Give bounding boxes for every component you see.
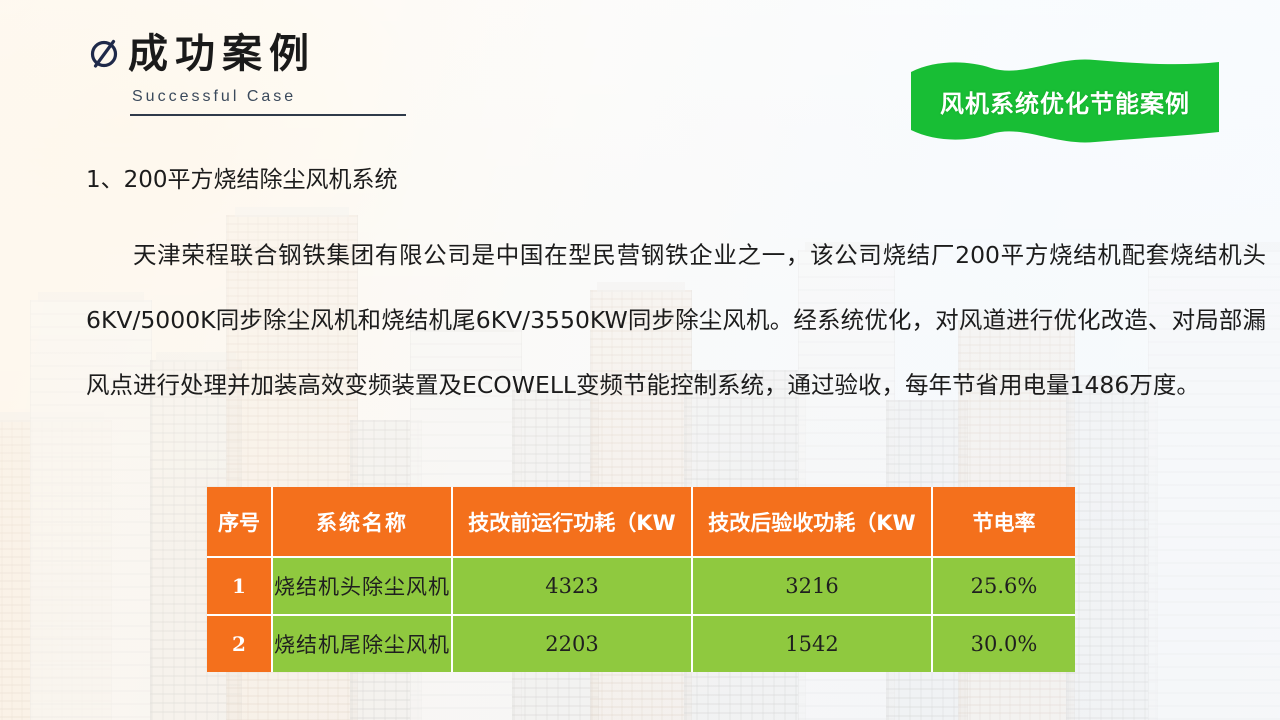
ribbon-label: 风机系统优化节能案例 — [905, 84, 1225, 119]
cell-saving-rate: 30.0% — [933, 616, 1075, 672]
column-header-saving-rate: 节电率 — [933, 487, 1075, 558]
page-title-block: 成功案例 Successful Case — [88, 34, 406, 116]
page-title: 成功案例 — [128, 34, 316, 74]
cell-index: 2 — [207, 616, 273, 672]
cell-system-name: 烧结机头除尘风机 — [273, 558, 453, 616]
body-copy: 1、200平方烧结除尘风机系统 天津荣程联合钢铁集团有限公司是中国在型民营钢铁企… — [86, 168, 1266, 418]
cell-power-after: 1542 — [693, 616, 933, 672]
slide-canvas: 成功案例 Successful Case 风机系统优化节能案例 1、200平方烧… — [0, 0, 1280, 720]
results-table: 序号 系统名称 技改前运行功耗（KW 技改后验收功耗（KW 节电率 1 烧结机头… — [207, 487, 1075, 672]
column-header-power-before: 技改前运行功耗（KW — [453, 487, 693, 558]
cell-power-before: 4323 — [453, 558, 693, 616]
table-header-row: 序号 系统名称 技改前运行功耗（KW 技改后验收功耗（KW 节电率 — [207, 487, 1075, 558]
section-paragraph: 天津荣程联合钢铁集团有限公司是中国在型民营钢铁企业之一，该公司烧结厂200平方烧… — [86, 223, 1266, 418]
null-slash-icon — [88, 37, 122, 71]
column-header-power-after: 技改后验收功耗（KW — [693, 487, 933, 558]
cell-saving-rate: 25.6% — [933, 558, 1075, 616]
section-heading: 1、200平方烧结除尘风机系统 — [86, 168, 1266, 193]
cell-power-before: 2203 — [453, 616, 693, 672]
column-header-index: 序号 — [207, 487, 273, 558]
table-row: 1 烧结机头除尘风机 4323 3216 25.6% — [207, 558, 1075, 616]
cell-system-name: 烧结机尾除尘风机 — [273, 616, 453, 672]
title-divider — [130, 114, 406, 116]
ribbon-banner: 风机系统优化节能案例 — [905, 58, 1225, 146]
cell-power-after: 3216 — [693, 558, 933, 616]
column-header-system-name: 系统名称 — [273, 487, 453, 558]
page-subtitle: Successful Case — [132, 88, 406, 106]
cell-index: 1 — [207, 558, 273, 616]
table-row: 2 烧结机尾除尘风机 2203 1542 30.0% — [207, 616, 1075, 672]
